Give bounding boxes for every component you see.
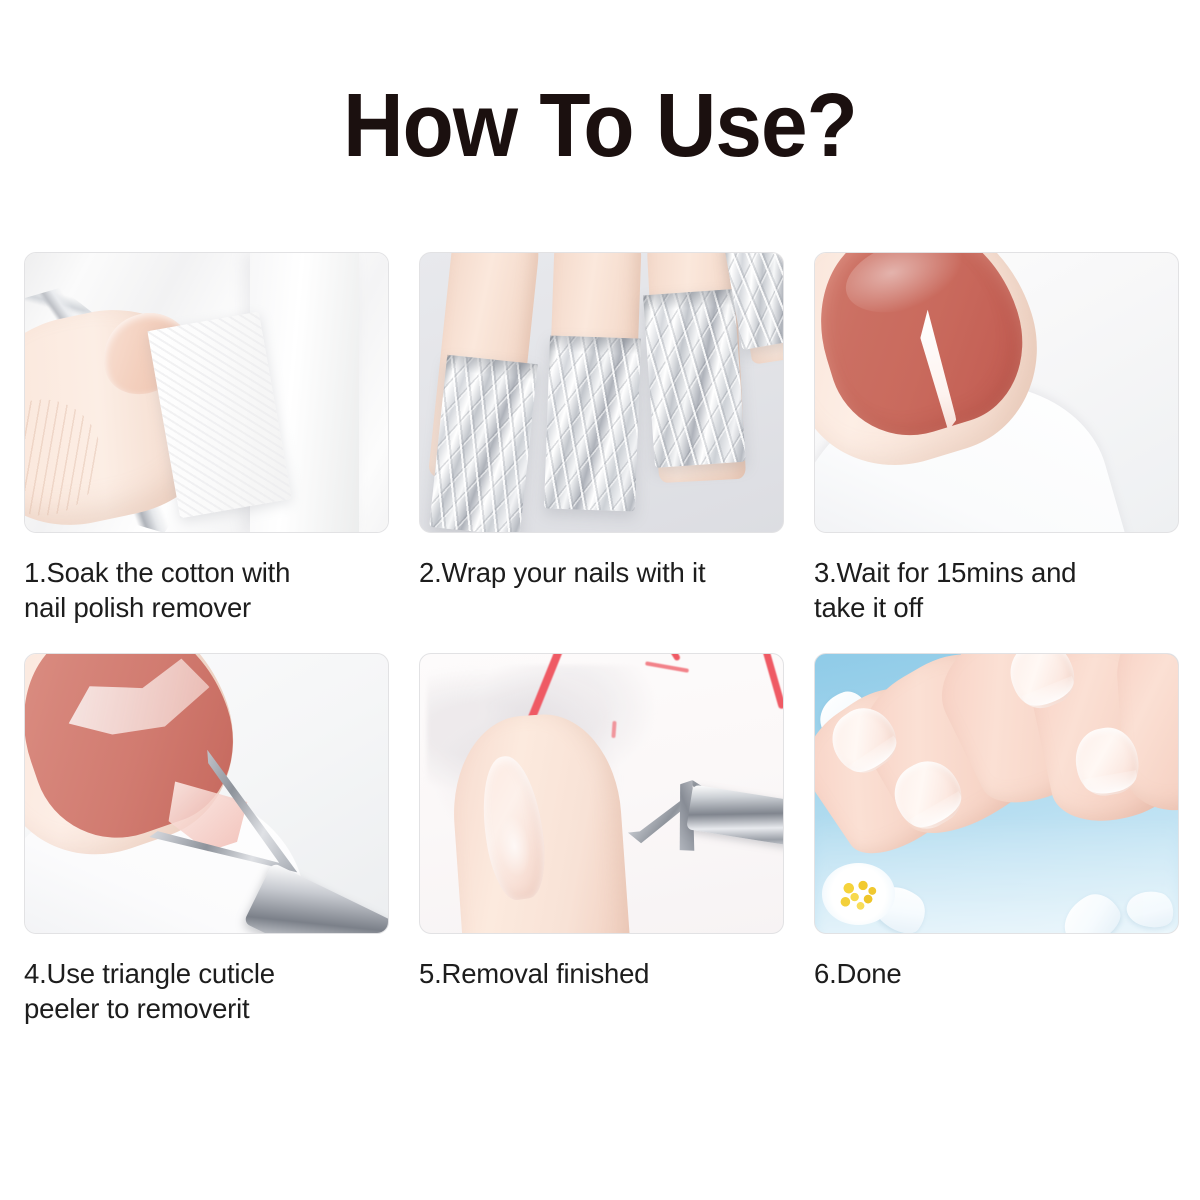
red-mark-shape	[638, 653, 681, 661]
photo-done	[814, 653, 1179, 934]
red-mark-shape	[678, 653, 728, 654]
step-card-6: 6.Done	[814, 653, 1179, 1026]
photo-triangle-peeler	[24, 653, 389, 934]
foil-wrap-shape	[544, 335, 641, 511]
hand-shape	[830, 653, 1179, 877]
step-caption-6: 6.Done	[814, 956, 1179, 991]
step-card-5: 5.Removal finished	[419, 653, 784, 1026]
step-caption-4: 4.Use triangle cuticle peeler to remover…	[24, 956, 389, 1026]
bare-nail-shape	[475, 752, 551, 902]
step-card-1: 1.Soak the cotton with nail polish remov…	[24, 252, 389, 625]
step-card-4: 4.Use triangle cuticle peeler to remover…	[24, 653, 389, 1026]
page-title: How To Use?	[42, 78, 1158, 174]
foil-wrap-shape	[429, 355, 537, 533]
tool-handle-shape	[686, 784, 784, 847]
step-card-3: 3.Wait for 15mins and take it off	[814, 252, 1179, 625]
steps-grid: 1.Soak the cotton with nail polish remov…	[24, 252, 1179, 1026]
step-caption-1: 1.Soak the cotton with nail polish remov…	[24, 555, 389, 625]
step-card-2: 2.Wrap your nails with it	[419, 252, 784, 625]
step-caption-3: 3.Wait for 15mins and take it off	[814, 555, 1179, 625]
photo-wait-15mins	[814, 252, 1179, 533]
foil-wrap-shape	[643, 289, 746, 468]
red-mark-shape	[759, 653, 784, 709]
photo-removal-finished	[419, 653, 784, 934]
flower-stamen-shape	[837, 878, 879, 912]
step-caption-2: 2.Wrap your nails with it	[419, 555, 784, 590]
step-caption-5: 5.Removal finished	[419, 956, 784, 991]
photo-wrap-nails	[419, 252, 784, 533]
photo-soak-cotton	[24, 252, 389, 533]
infographic-page: How To Use? 1.Soak the cotton with nail …	[0, 0, 1200, 1200]
